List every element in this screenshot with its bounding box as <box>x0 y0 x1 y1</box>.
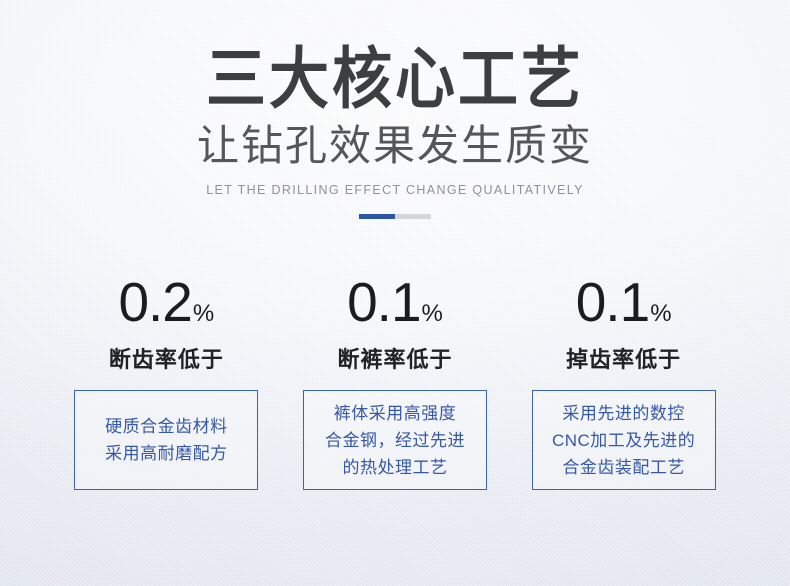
stat-value-1: 0.2 % <box>118 275 214 330</box>
divider <box>359 214 431 219</box>
stat-label-3: 掉齿率低于 <box>566 342 681 374</box>
stat-label-2: 断裤率低于 <box>337 342 452 374</box>
stat-percent-2: % <box>422 302 443 326</box>
divider-segment-blue <box>359 214 395 219</box>
poster-header: 三大核心工艺 让钻孔效果发生质变 LET THE DRILLING EFFECT… <box>0 0 790 219</box>
stat-number-3: 0.1 <box>576 275 649 330</box>
stat-box-text-1: 硬质合金齿材料 采用高耐磨配方 <box>105 413 228 467</box>
stat-box-3: 采用先进的数控 CNC加工及先进的 合金齿装配工艺 <box>532 390 716 490</box>
stat-label-1: 断齿率低于 <box>109 342 224 374</box>
stat-box-1: 硬质合金齿材料 采用高耐磨配方 <box>74 390 258 490</box>
stat-percent-3: % <box>650 302 671 326</box>
stat-box-text-3: 采用先进的数控 CNC加工及先进的 合金齿装配工艺 <box>552 400 695 481</box>
page-subtitle-english: LET THE DRILLING EFFECT CHANGE QUALITATI… <box>0 182 790 198</box>
stat-value-3: 0.1 % <box>576 275 672 330</box>
poster-canvas: 三大核心工艺 让钻孔效果发生质变 LET THE DRILLING EFFECT… <box>0 0 790 586</box>
stat-box-2: 裤体采用高强度 合金钢，经过先进 的热处理工艺 <box>303 390 487 490</box>
divider-segment-grey <box>395 214 431 219</box>
page-subtitle: 让钻孔效果发生质变 <box>0 122 790 170</box>
stat-column-3: 0.1 % 掉齿率低于 采用先进的数控 CNC加工及先进的 合金齿装配工艺 <box>509 275 738 490</box>
stat-column-1: 0.2 % 断齿率低于 硬质合金齿材料 采用高耐磨配方 <box>52 275 281 490</box>
poster-content: 三大核心工艺 让钻孔效果发生质变 LET THE DRILLING EFFECT… <box>0 0 790 586</box>
stat-box-text-2: 裤体采用高强度 合金钢，经过先进 的热处理工艺 <box>325 400 465 481</box>
stat-number-1: 0.2 <box>118 275 191 330</box>
stat-percent-1: % <box>193 302 214 326</box>
stat-column-2: 0.1 % 断裤率低于 裤体采用高强度 合金钢，经过先进 的热处理工艺 <box>281 275 510 490</box>
stats-row: 0.2 % 断齿率低于 硬质合金齿材料 采用高耐磨配方 0.1 % 断裤率低于 … <box>0 275 790 490</box>
stat-number-2: 0.1 <box>347 275 420 330</box>
page-title: 三大核心工艺 <box>0 44 790 116</box>
stat-value-2: 0.1 % <box>347 275 443 330</box>
